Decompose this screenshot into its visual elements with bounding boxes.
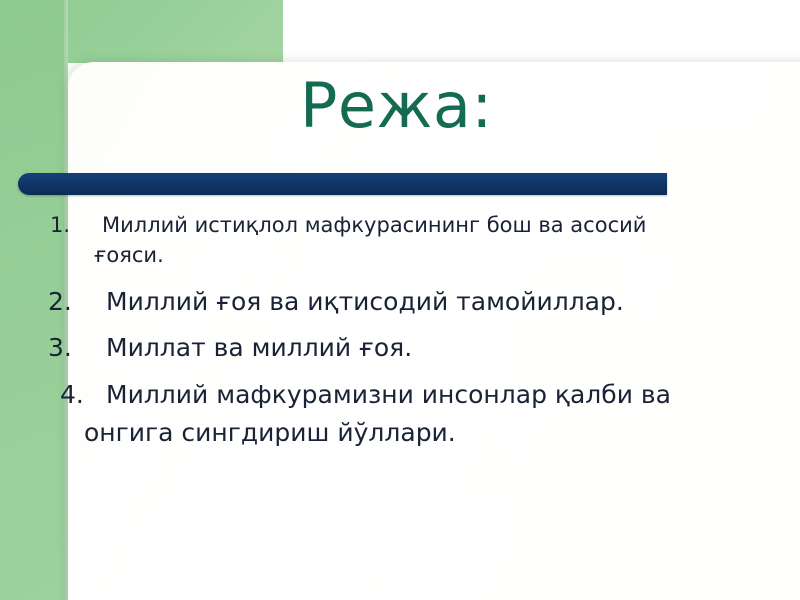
list-item-number: 1. [72, 210, 102, 240]
list-item-text: Миллий истиқлол мафкурасининг бош ва асо… [94, 213, 646, 267]
page-title: Режа: [300, 60, 780, 152]
list-item-text: Миллий ғоя ва иқтисодий тамойиллар. [106, 287, 624, 316]
list-item: 1.Миллий истиқлол мафкурасининг бош ва а… [72, 210, 669, 270]
list-item: 4.Миллий мафкурамизни инсонлар қалби ва … [72, 376, 734, 452]
list-item-text: Миллат ва миллий ғоя. [106, 333, 412, 362]
list-item: 2.Миллий ғоя ва иқтисодий тамойиллар. [72, 284, 772, 320]
presentation-slide: Режа: 1.Миллий истиқлол мафкурасининг бо… [0, 0, 800, 600]
list-item-number: 3. [72, 330, 106, 366]
list-item-text: Миллий мафкурамизни инсонлар қалби ва он… [84, 380, 671, 447]
agenda-list: 1.Миллий истиқлол мафкурасининг бош ва а… [72, 210, 772, 458]
list-item-number: 4. [72, 376, 106, 414]
accent-bar [18, 173, 667, 195]
list-item: 3.Миллат ва миллий ғоя. [72, 330, 772, 366]
list-item-number: 2. [72, 284, 106, 320]
